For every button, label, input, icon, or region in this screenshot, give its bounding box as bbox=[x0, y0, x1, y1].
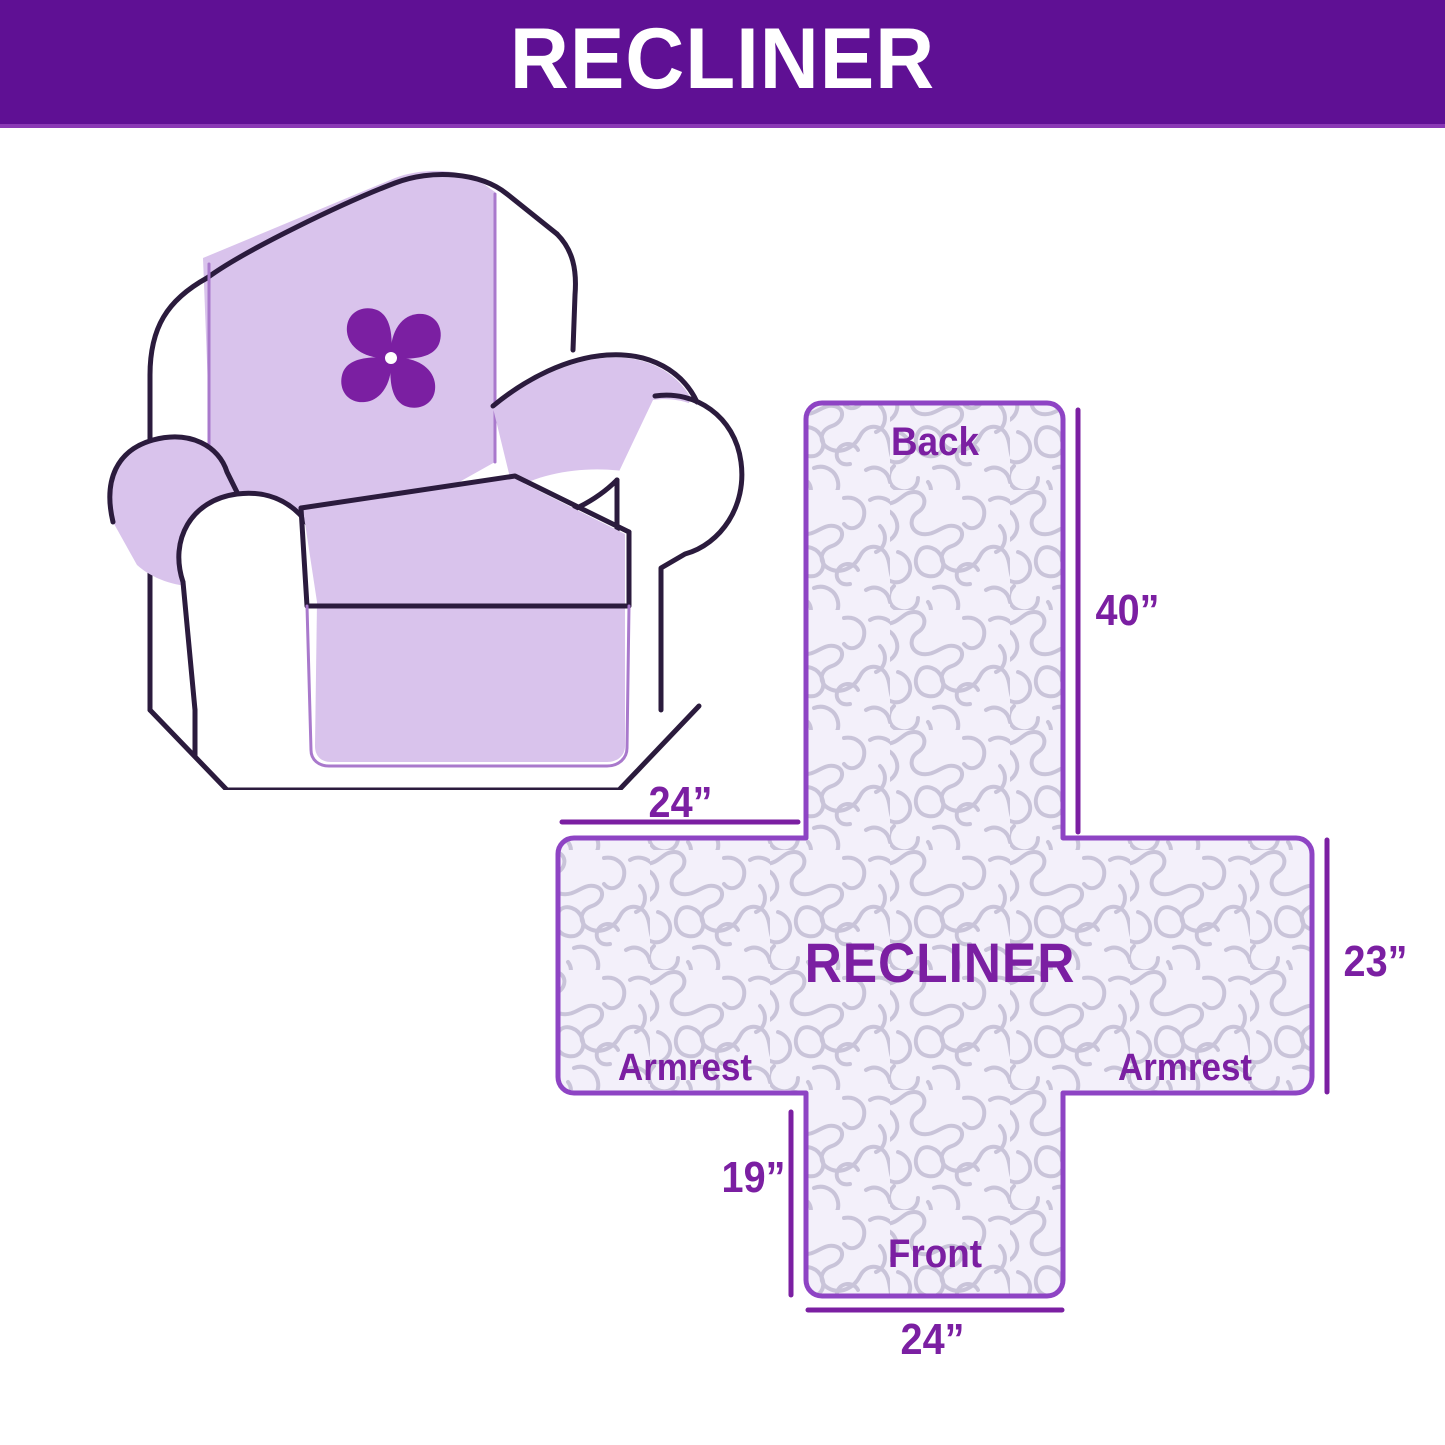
panel-label-recliner: RECLINER bbox=[719, 930, 1161, 995]
dimension-value-front-height: 19” bbox=[722, 1153, 786, 1203]
panel-label-back: Back bbox=[816, 420, 1053, 465]
page-title: RECLINER bbox=[36, 0, 1409, 124]
panel-label-armrest-left: Armrest bbox=[570, 1047, 800, 1090]
panel-label-front: Front bbox=[816, 1232, 1053, 1277]
dimension-value-armrest-depth: 23” bbox=[1344, 937, 1408, 987]
cover-cross-shape bbox=[558, 403, 1312, 1296]
product-dimension-infographic: RECLINER bbox=[0, 0, 1445, 1445]
dimension-value-back-height: 40” bbox=[1096, 586, 1160, 636]
dimension-value-back-width: 24” bbox=[649, 778, 713, 828]
dimension-value-front-width: 24” bbox=[901, 1315, 965, 1365]
panel-label-armrest-right: Armrest bbox=[1070, 1047, 1300, 1090]
header-underline-divider bbox=[0, 124, 1445, 128]
flat-layout-diagram bbox=[530, 370, 1430, 1380]
